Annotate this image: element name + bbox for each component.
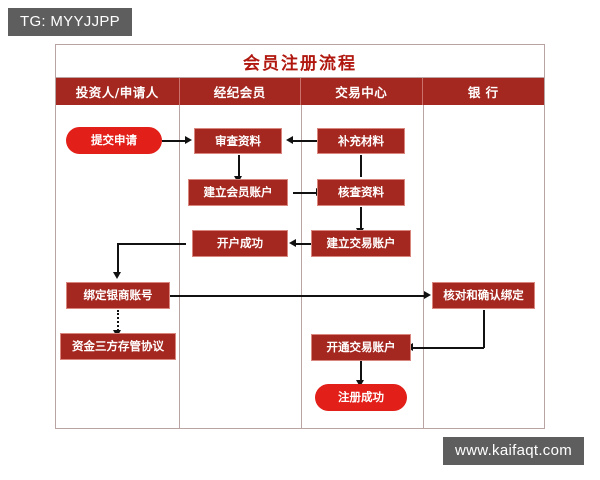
- node-activate-trading-account[interactable]: 开通交易账户: [311, 334, 411, 361]
- lane-header-investor: 投资人/申请人: [56, 78, 179, 105]
- diagram-title: 会员注册流程: [243, 49, 357, 74]
- node-confirm-binding[interactable]: 核对和确认绑定: [432, 282, 535, 309]
- edge-confirm-activate-h: [413, 347, 484, 349]
- lane-header-investor-label: 投资人/申请人: [76, 82, 159, 101]
- edge-bind-custody-dotted: [117, 310, 119, 331]
- lane-header-broker-label: 经纪会员: [214, 82, 266, 101]
- edge-verify-supplement-line: [360, 155, 362, 177]
- node-registration-success[interactable]: 注册成功: [315, 384, 407, 411]
- node-account-opened[interactable]: 开户成功: [192, 230, 288, 257]
- node-create-member-account-label: 建立会员账户: [204, 186, 273, 199]
- node-verify-documents-label: 核查资料: [338, 186, 384, 199]
- edge-confirm-activate-v: [483, 310, 485, 348]
- lane-header-bank: 银 行: [422, 78, 545, 105]
- node-create-member-account[interactable]: 建立会员账户: [188, 179, 288, 206]
- node-verify-documents[interactable]: 核查资料: [317, 179, 405, 206]
- node-supplement-materials[interactable]: 补充材料: [317, 128, 405, 154]
- node-bind-bank-account-label: 绑定银商账号: [84, 289, 153, 302]
- tg-watermark-tag: TG: MYYJJPP: [8, 8, 132, 36]
- lane-header-exchange-label: 交易中心: [335, 82, 387, 101]
- edge-bind-confirm-line: [170, 295, 425, 297]
- edge-supplement-review-arrow: [286, 136, 293, 144]
- site-watermark-tag: www.kaifaqt.com: [443, 437, 584, 465]
- node-custody-agreement[interactable]: 资金三方存管协议: [60, 333, 176, 360]
- edge-opensuccess-bind-arrow: [113, 272, 121, 279]
- node-review-documents[interactable]: 审查资料: [194, 128, 282, 154]
- node-supplement-materials-label: 补充材料: [338, 135, 384, 148]
- lane-header-row: 投资人/申请人 经纪会员 交易中心 银 行: [56, 78, 544, 105]
- node-review-documents-label: 审查资料: [215, 135, 261, 148]
- edge-submit-review-line: [162, 140, 186, 142]
- swimlane-table: 会员注册流程 投资人/申请人 经纪会员 交易中心 银 行: [55, 44, 545, 429]
- lane-header-bank-label: 银 行: [468, 82, 499, 101]
- diagram-title-band: 会员注册流程: [56, 45, 544, 78]
- edge-verify-createtrade-line: [360, 207, 362, 229]
- edge-opensuccess-bind-h: [117, 243, 186, 245]
- node-create-trading-account[interactable]: 建立交易账户: [311, 230, 411, 257]
- node-submit-application[interactable]: 提交申请: [66, 127, 162, 154]
- node-custody-agreement-label: 资金三方存管协议: [72, 340, 164, 353]
- node-bind-bank-account[interactable]: 绑定银商账号: [66, 282, 170, 309]
- node-account-opened-label: 开户成功: [217, 237, 263, 250]
- edge-createmember-verify-line: [293, 192, 317, 194]
- lane-header-exchange: 交易中心: [300, 78, 422, 105]
- edge-opensuccess-bind-v: [117, 243, 119, 274]
- edge-activate-done-line: [360, 361, 362, 381]
- node-registration-success-label: 注册成功: [338, 391, 384, 404]
- lane-divider-2: [301, 105, 302, 429]
- node-activate-trading-account-label: 开通交易账户: [327, 341, 396, 354]
- flowchart-canvas: TG: MYYJJPP 会员注册流程 投资人/申请人 经纪会员 交易中心 银 行: [0, 0, 600, 480]
- edge-createtrade-opensuccess-arrow: [289, 239, 296, 247]
- lane-divider-1: [179, 105, 180, 429]
- lane-divider-3: [423, 105, 424, 429]
- node-submit-application-label: 提交申请: [91, 134, 137, 147]
- lane-header-broker: 经纪会员: [179, 78, 301, 105]
- edge-submit-review-arrow: [185, 136, 192, 144]
- edge-bind-confirm-arrow: [424, 291, 431, 299]
- node-create-trading-account-label: 建立交易账户: [327, 237, 396, 250]
- node-confirm-binding-label: 核对和确认绑定: [443, 289, 524, 302]
- edge-review-createmember-line: [238, 155, 240, 177]
